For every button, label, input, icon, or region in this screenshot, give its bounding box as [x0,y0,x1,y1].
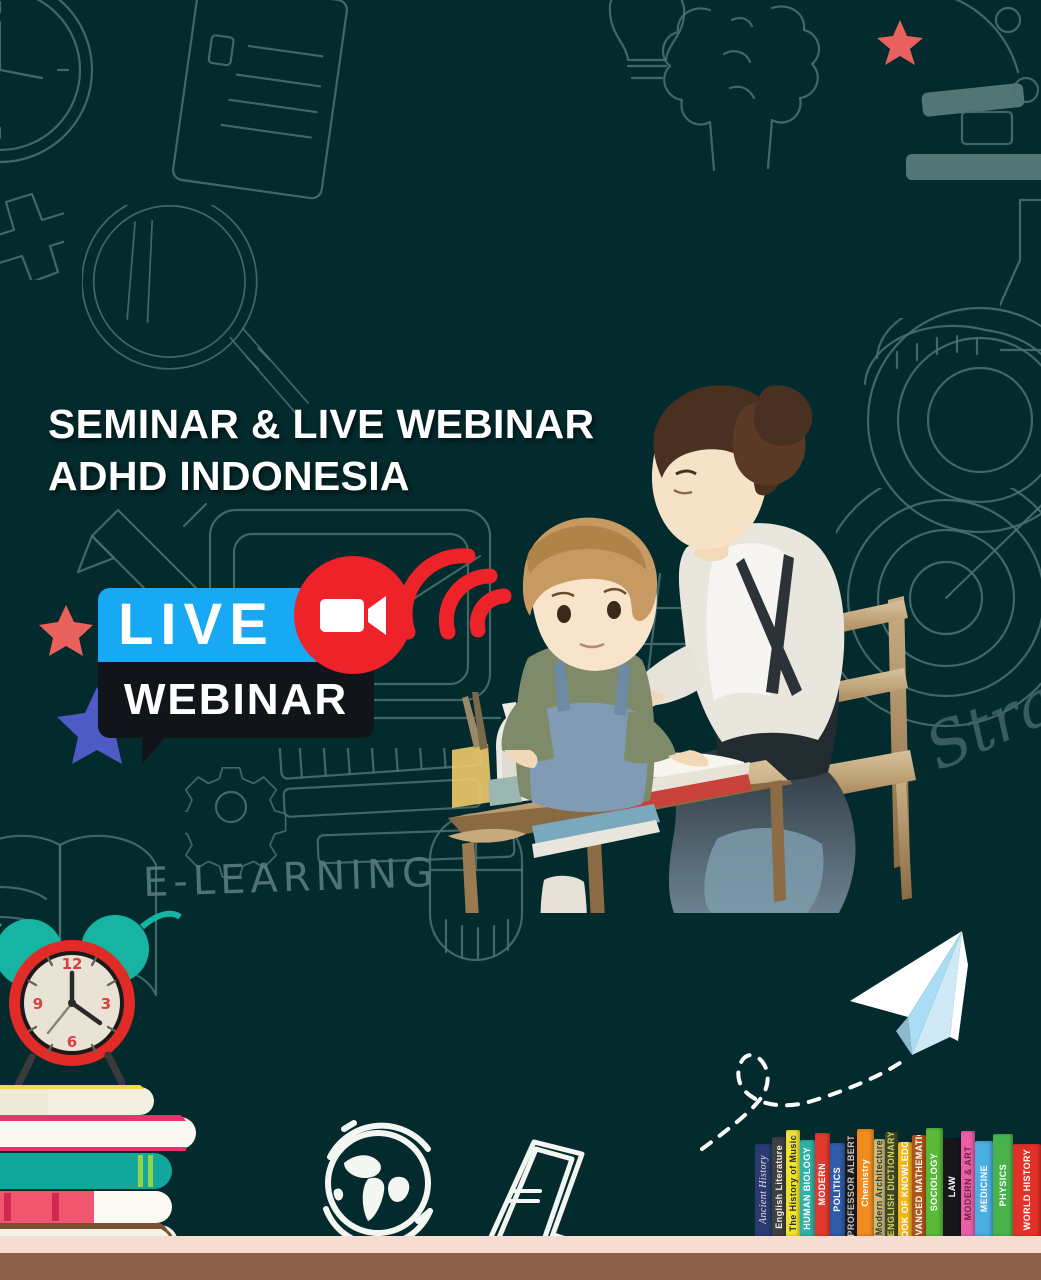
book-spine: Modern Architecture [874,1139,885,1236]
book-spine-title: LAW [948,1176,957,1197]
book-spine-title: ADVANCED MATHEMATICS [915,1135,924,1236]
speech-bubble-tail [142,736,166,764]
book-spine-title: WORLD HISTORY [1023,1149,1032,1230]
book-spine: ENGLISH DICTIONARY [885,1132,898,1236]
book-spine: LAW [943,1138,961,1236]
book-spine: HUMAN BIOLOGY [800,1140,815,1236]
live-webinar-badge[interactable]: LIVE WEBINAR [98,588,374,738]
lightbulb-icon [570,0,730,114]
webinar-bar: WEBINAR [98,662,374,738]
paper-plane-group [700,925,1000,1155]
svg-text:12: 12 [62,955,83,973]
book-spine: MODERN [815,1133,830,1236]
plus-icon [0,190,64,280]
book-spine: The History of Music [786,1130,800,1236]
record-circle[interactable] [294,556,412,674]
page-title-line2: ADHD INDONESIA [48,450,594,502]
book-spine-title: POLITICS [833,1167,842,1212]
webinar-label: WEBINAR [124,678,348,722]
video-camera-icon [318,593,388,637]
book-spine-title: ENGLISH DICTIONARY [887,1132,896,1236]
shelf-top-edge [0,1236,1041,1253]
book-spine-title: MEDICINE [980,1165,989,1212]
paper-plane-icon [850,931,968,1055]
book-spine-title: MODERN & ART [964,1146,973,1220]
clipboard-icon [165,0,395,230]
book-spine: MEDICINE [975,1141,993,1236]
book-spine: WORLD HISTORY [1013,1144,1041,1236]
book-spine: PROFESSOR ALBERT [845,1136,857,1236]
book-row: Ancient HistoryEnglish LiteratureThe His… [755,1128,1041,1236]
book-spine: Chemistry [857,1129,874,1236]
book-spine: ADVANCED MATHEMATICS [912,1135,926,1236]
seminar-webinar-poster: E-LEARNING S [0,0,1041,1280]
svg-text:6: 6 [67,1033,77,1051]
book-spine-title: The History of Music [789,1135,798,1232]
book-spine: English Literature [772,1137,786,1236]
microscope-icon [880,0,1041,220]
flask-icon [1000,190,1041,410]
book-spine: SOCIOLOGY [926,1128,943,1236]
page-title-line1: SEMINAR & LIVE WEBINAR [48,401,594,447]
svg-text:3: 3 [101,995,111,1013]
book-spine-title: Chemistry [861,1159,870,1207]
book-spine-title: BOOK OF KNOWLEDGE [901,1142,910,1236]
book-spine: POLITICS [830,1143,845,1236]
e-learning-doodle-text: E-LEARNING [142,850,438,906]
page-title: SEMINAR & LIVE WEBINAR ADHD INDONESIA [48,398,594,502]
book-spine-title: PHYSICS [999,1164,1008,1206]
book-spine-title: HUMAN BIOLOGY [803,1147,812,1230]
live-label: LIVE [118,596,275,654]
book-spine-title: Modern Architecture [875,1140,884,1235]
book-spine: MODERN & ART [961,1131,975,1236]
brain-icon [660,0,960,240]
shelf-body [0,1253,1041,1280]
alarm-clock-and-books: 12 3 6 9 [0,905,272,1280]
book-spine-title: PROFESSOR ALBERT [847,1136,856,1236]
globe-continents [334,1155,410,1221]
clock-icon [0,0,160,190]
book-stack [0,1085,196,1261]
book-spine: Ancient History [755,1144,772,1236]
small-red-star-top [876,18,924,66]
alarm-clock-icon: 12 3 6 9 [0,910,180,1085]
book-spine-title: MODERN [818,1163,827,1205]
book-spine: PHYSICS [993,1134,1013,1236]
svg-text:9: 9 [33,995,43,1013]
red-star [38,602,94,658]
book-spine-title: English Literature [775,1145,784,1229]
gear-icon [185,760,305,880]
book-spine-title: Ancient History [759,1155,769,1224]
book-spine-title: SOCIOLOGY [930,1153,939,1211]
shelf [0,1236,1041,1280]
book-spine: BOOK OF KNOWLEDGE [898,1142,912,1236]
